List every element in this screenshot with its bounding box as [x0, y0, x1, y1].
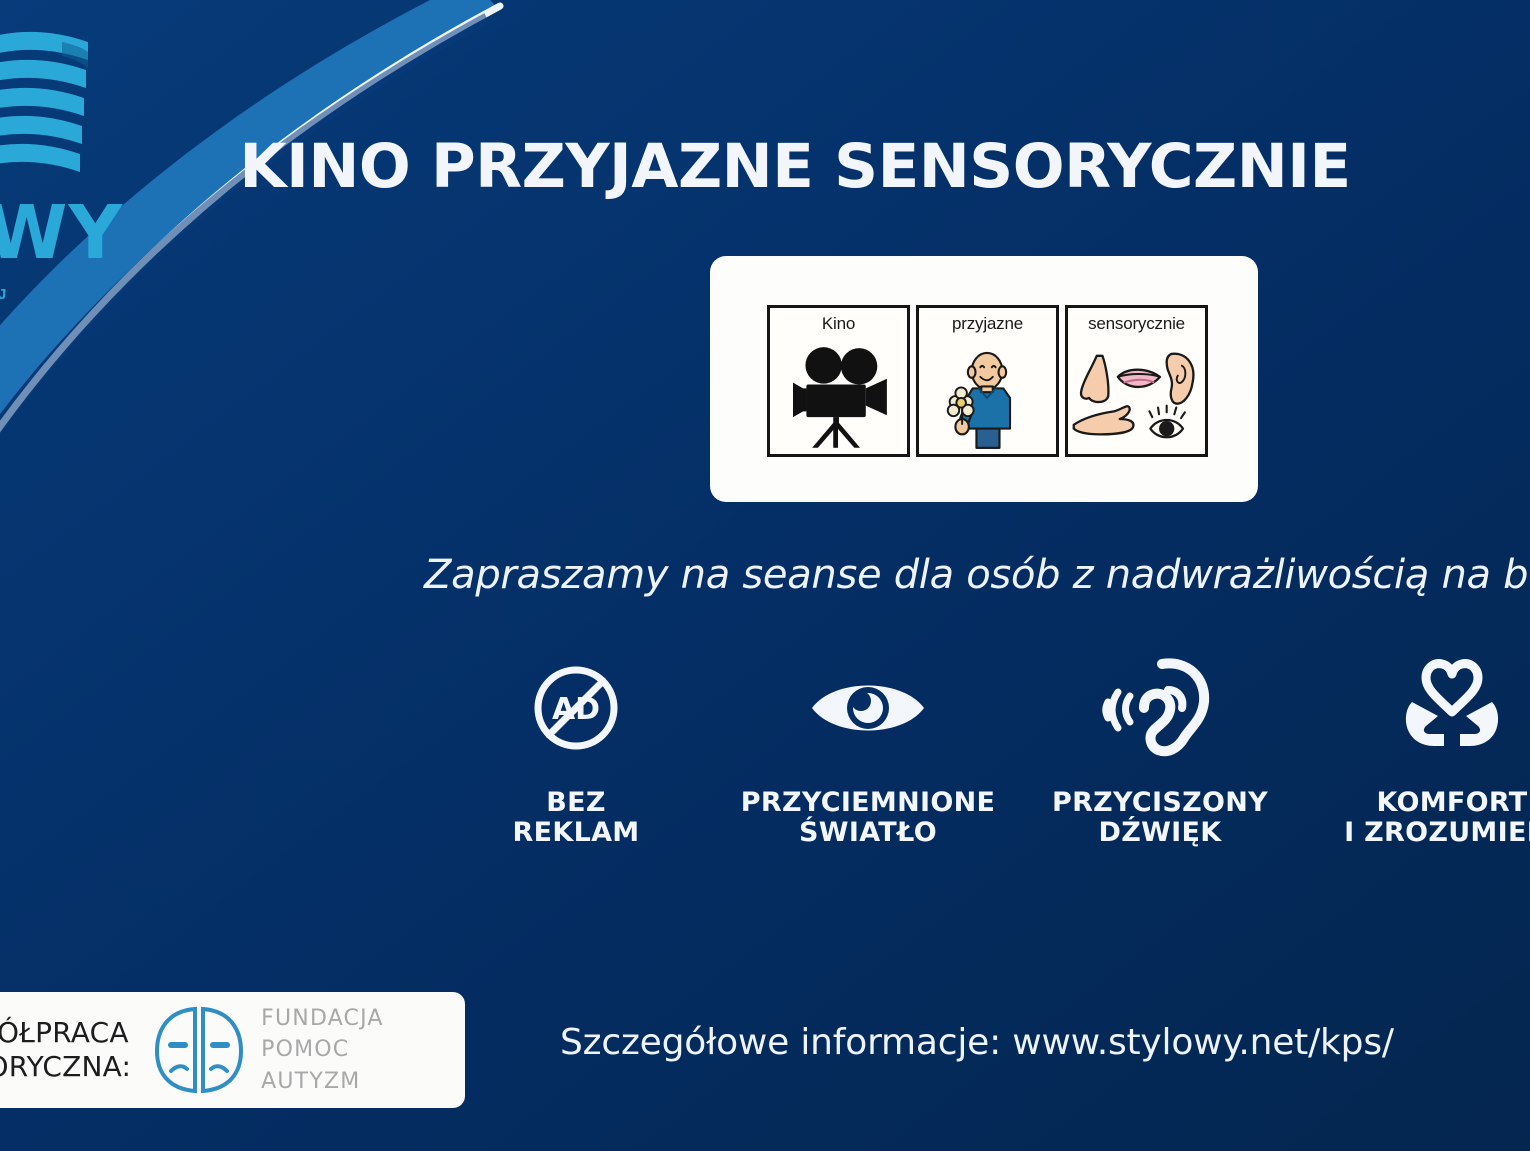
movie-camera-pictogram	[770, 338, 907, 456]
senses-nose-lips-ear-hand-eye-pictogram	[1068, 338, 1205, 456]
feature-list: AD BEZ REKLAM PRZYCIEMNIONE ŚWIATŁO	[430, 655, 1530, 848]
poster: OWY LMOWEJ KINO PRZYJAZNE SENSORYCZNIE K…	[0, 0, 1530, 1151]
pictogram-przyjazne: przyjazne	[916, 305, 1059, 457]
ear-sound-waves-icon	[1102, 658, 1218, 758]
pictogram-sensorycznie: sensorycznie	[1065, 305, 1208, 457]
feature-icon-wrap: AD	[430, 655, 722, 760]
hands-holding-heart-icon	[1396, 658, 1508, 758]
pictogram-kino: Kino	[767, 305, 910, 457]
feature-label: PRZYCIEMNIONE ŚWIATŁO	[722, 788, 1014, 848]
eye-icon	[808, 670, 928, 746]
pictogram-label: sensorycznie	[1068, 314, 1205, 334]
pictogram-label: przyjazne	[919, 314, 1056, 334]
logo-wordmark: OWY	[0, 196, 172, 270]
svg-text:AD: AD	[552, 692, 600, 727]
friendly-person-with-flower-pictogram	[919, 338, 1056, 456]
partner-badge: WSPÓŁPRACA RYTORYCZNA: FUNDACJA POMOC AU…	[0, 992, 465, 1108]
subtitle: Zapraszamy na seanse dla osób z nadwrażl…	[424, 552, 1530, 598]
pictogram-label: Kino	[770, 314, 907, 334]
logo-tagline: LMOWEJ	[0, 286, 9, 303]
info-line[interactable]: Szczegółowe informacje: www.stylowy.net/…	[560, 1022, 1394, 1063]
feature-label: KOMFORT I ZROZUMIENI	[1306, 788, 1530, 848]
feature-icon-wrap	[1014, 655, 1306, 760]
page-title: KINO PRZYJAZNE SENSORYCZNIE	[0, 131, 1530, 202]
pictogram-card: Kino pr	[710, 256, 1258, 502]
butterfly-faces-logo	[151, 1003, 247, 1097]
feature-bez-reklam: AD BEZ REKLAM	[430, 655, 722, 848]
no-ads-icon: AD	[528, 660, 624, 756]
partner-name: FUNDACJA POMOC AUTYZM	[261, 1003, 384, 1097]
pictogram-row: Kino pr	[767, 305, 1208, 457]
feature-label: PRZYCISZONY DŹWIĘK	[1014, 788, 1306, 848]
feature-przyciemnione-swiatlo: PRZYCIEMNIONE ŚWIATŁO	[722, 655, 1014, 848]
feature-icon-wrap	[722, 655, 1014, 760]
feature-label: BEZ REKLAM	[430, 788, 722, 848]
partner-label: WSPÓŁPRACA RYTORYCZNA:	[0, 1016, 131, 1084]
feature-komfort-i-zrozumienie: KOMFORT I ZROZUMIENI	[1306, 655, 1530, 848]
feature-przyciszony-dzwiek: PRZYCISZONY DŹWIĘK	[1014, 655, 1306, 848]
feature-icon-wrap	[1306, 655, 1530, 760]
